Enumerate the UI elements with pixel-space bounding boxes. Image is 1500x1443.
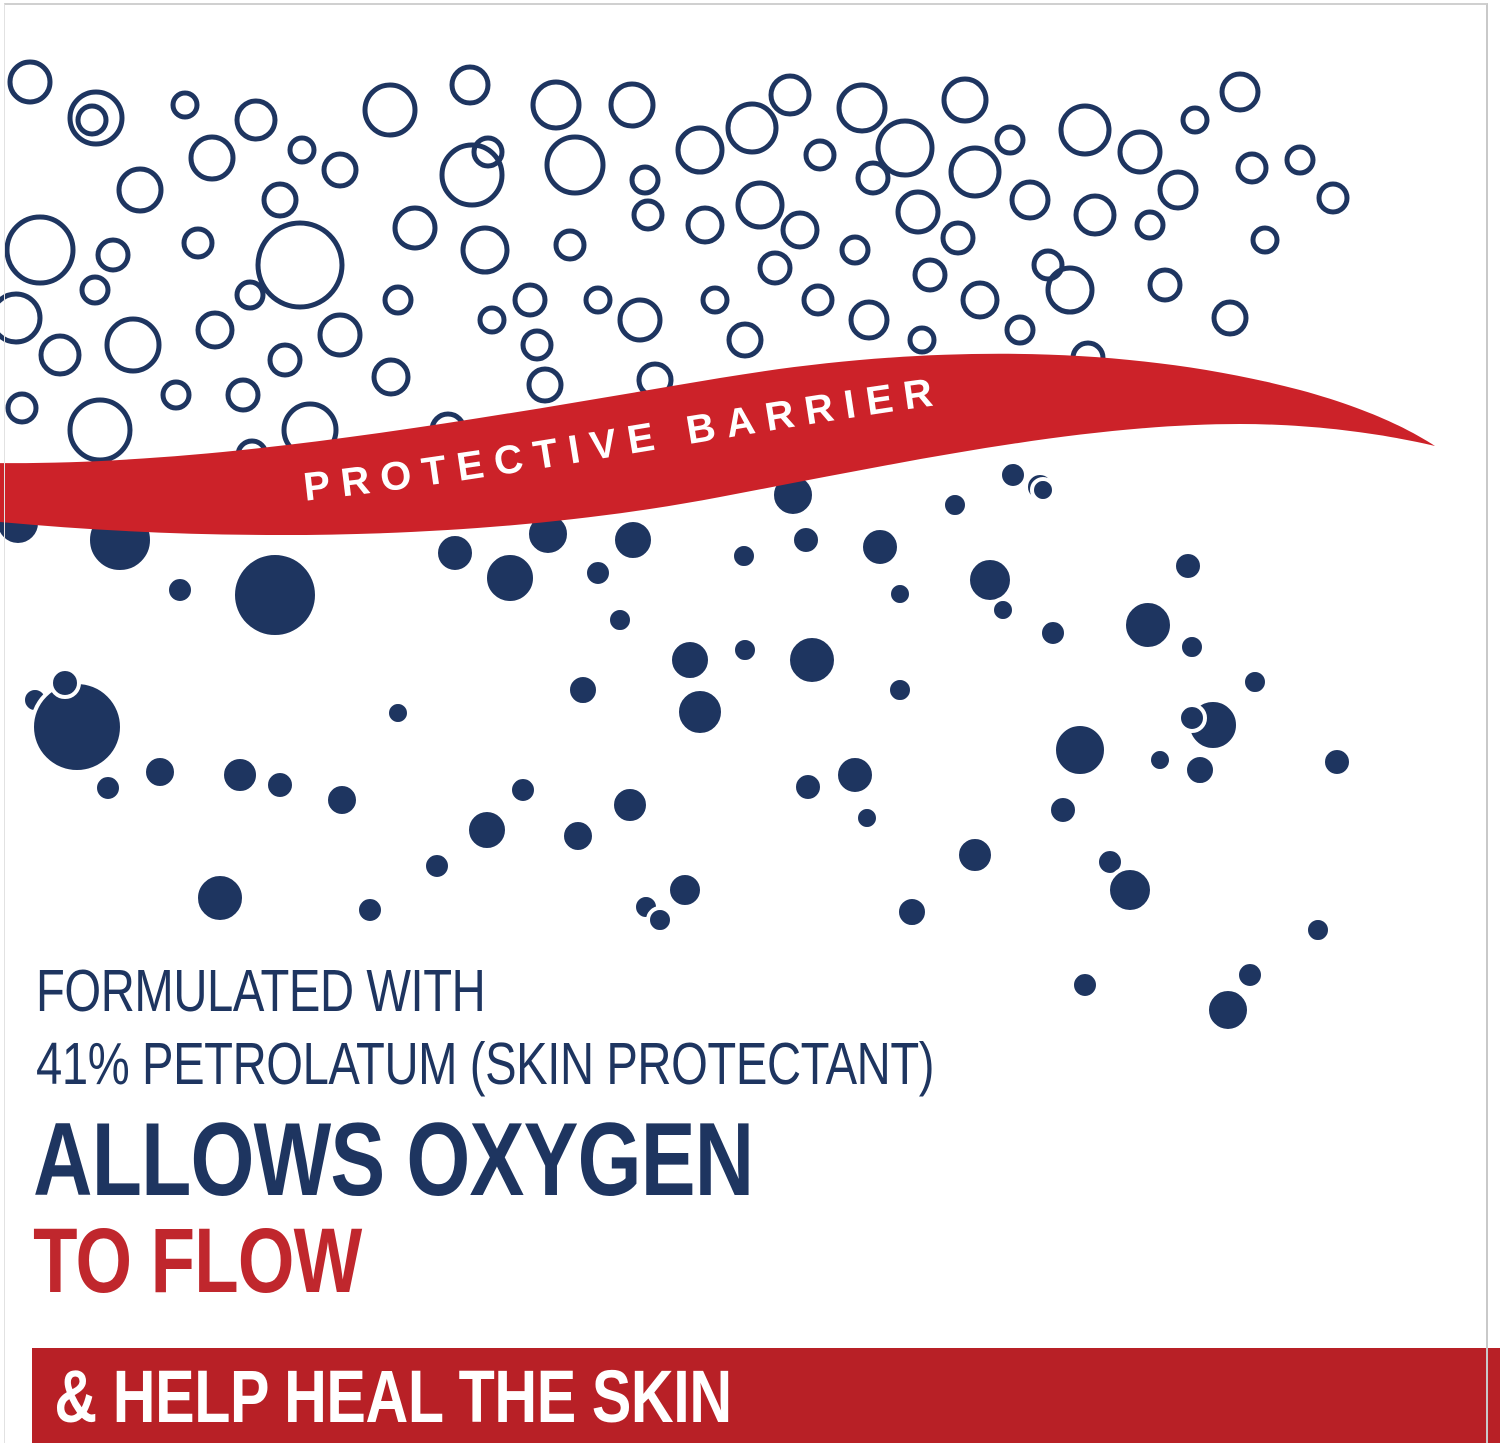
bottom-red-banner: & HELP HEAL THE SKIN [32, 1348, 1500, 1443]
headline-line-1: ALLOWS OXYGEN [0, 1110, 1185, 1210]
headline-line-2: TO FLOW [0, 1216, 1185, 1306]
banner-text: & HELP HEAL THE SKIN [32, 1348, 1206, 1434]
benefit-copy-block: FORMULATED WITH 41% PETROLATUM (SKIN PRO… [0, 962, 1500, 1306]
infographic-canvas: PROTECTIVE BARRIER FORMULATED WITH 41% P… [0, 0, 1500, 1443]
kicker-line-1: FORMULATED WITH [0, 962, 1200, 1021]
kicker-line-2: 41% PETROLATUM (SKIN PROTECTANT) [0, 1035, 1200, 1094]
